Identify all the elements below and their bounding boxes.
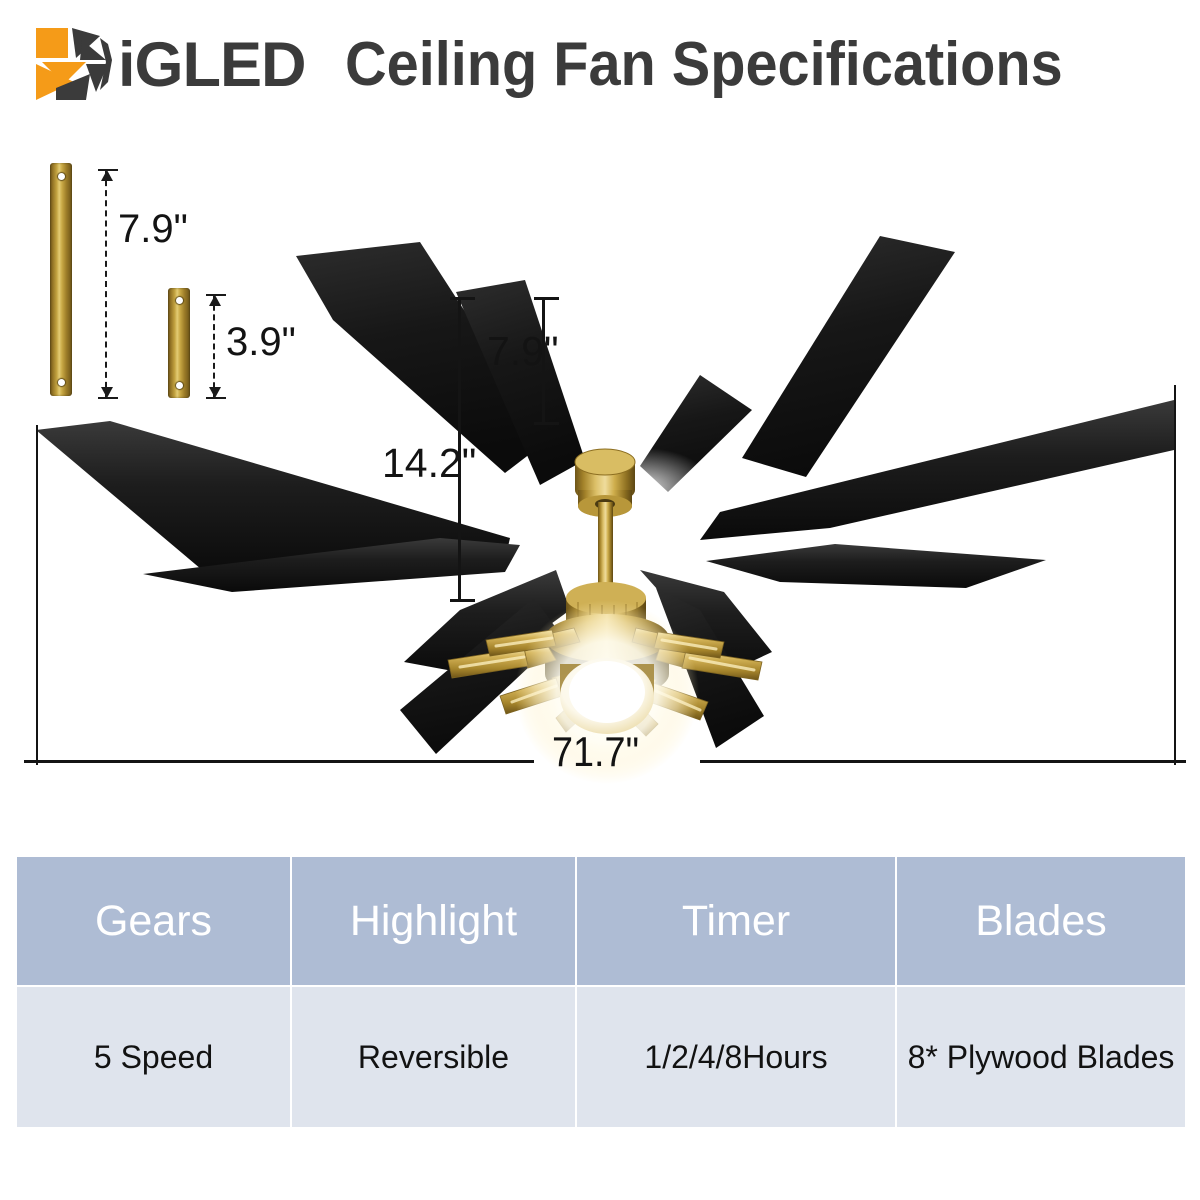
dimension-cap bbox=[450, 297, 475, 300]
table-header-row: Gears Highlight Timer Blades bbox=[16, 856, 1186, 986]
specifications-table: Gears Highlight Timer Blades 5 Speed Rev… bbox=[15, 855, 1187, 1129]
cell-timer: 1/2/4/8Hours bbox=[576, 986, 896, 1128]
dimension-arrow-up bbox=[101, 170, 113, 181]
downrod-screw-hole bbox=[58, 379, 65, 386]
page-title: Ceiling Fan Specifications bbox=[345, 27, 1063, 103]
extension-line-right bbox=[1174, 385, 1176, 765]
dimension-line-downrod-long bbox=[105, 170, 107, 398]
dimension-label-canopy-height: 7.9" bbox=[487, 328, 559, 375]
column-header-blades: Blades bbox=[896, 856, 1186, 986]
long-downrod bbox=[50, 163, 72, 396]
extension-line-left bbox=[36, 425, 38, 765]
dimension-label-downrod-short: 3.9" bbox=[226, 320, 296, 365]
cell-blades: 8* Plywood Blades bbox=[896, 986, 1186, 1128]
column-header-highlight: Highlight bbox=[291, 856, 576, 986]
dimension-line-width-left bbox=[24, 760, 534, 763]
brand-wordmark-text: iGLED bbox=[118, 30, 306, 100]
dimension-arrow-down bbox=[209, 387, 221, 398]
downrod-screw-hole bbox=[176, 382, 183, 389]
dimension-arrow-down bbox=[101, 387, 113, 398]
column-header-timer: Timer bbox=[576, 856, 896, 986]
digled-shutter-logo-icon bbox=[34, 26, 126, 102]
downrod-screw-hole bbox=[58, 173, 65, 180]
dimension-cap bbox=[534, 297, 559, 300]
dimension-cap bbox=[450, 599, 475, 602]
downrod-screw-hole bbox=[176, 297, 183, 304]
dimension-label-blade-span: 71.7" bbox=[552, 728, 639, 776]
cell-gears: 5 Speed bbox=[16, 986, 291, 1128]
cell-highlight: Reversible bbox=[291, 986, 576, 1128]
dimension-arrow-up bbox=[209, 295, 221, 306]
dimension-line-width-right bbox=[700, 760, 1186, 763]
column-header-gears: Gears bbox=[16, 856, 291, 986]
short-downrod bbox=[168, 288, 190, 398]
brand-wordmark: iGLED bbox=[118, 30, 306, 100]
dimension-label-total-height: 14.2" bbox=[382, 440, 476, 487]
product-diagram: 7.9" 3.9" 7.9" 14.2" 71.7" bbox=[0, 140, 1200, 840]
dimension-cap bbox=[534, 422, 559, 425]
table-row: 5 Speed Reversible 1/2/4/8Hours 8* Plywo… bbox=[16, 986, 1186, 1128]
dimension-label-downrod-long: 7.9" bbox=[118, 207, 188, 252]
dimension-line-downrod-short bbox=[213, 295, 215, 398]
page-header: iGLED Ceiling Fan Specifications bbox=[0, 0, 1200, 140]
